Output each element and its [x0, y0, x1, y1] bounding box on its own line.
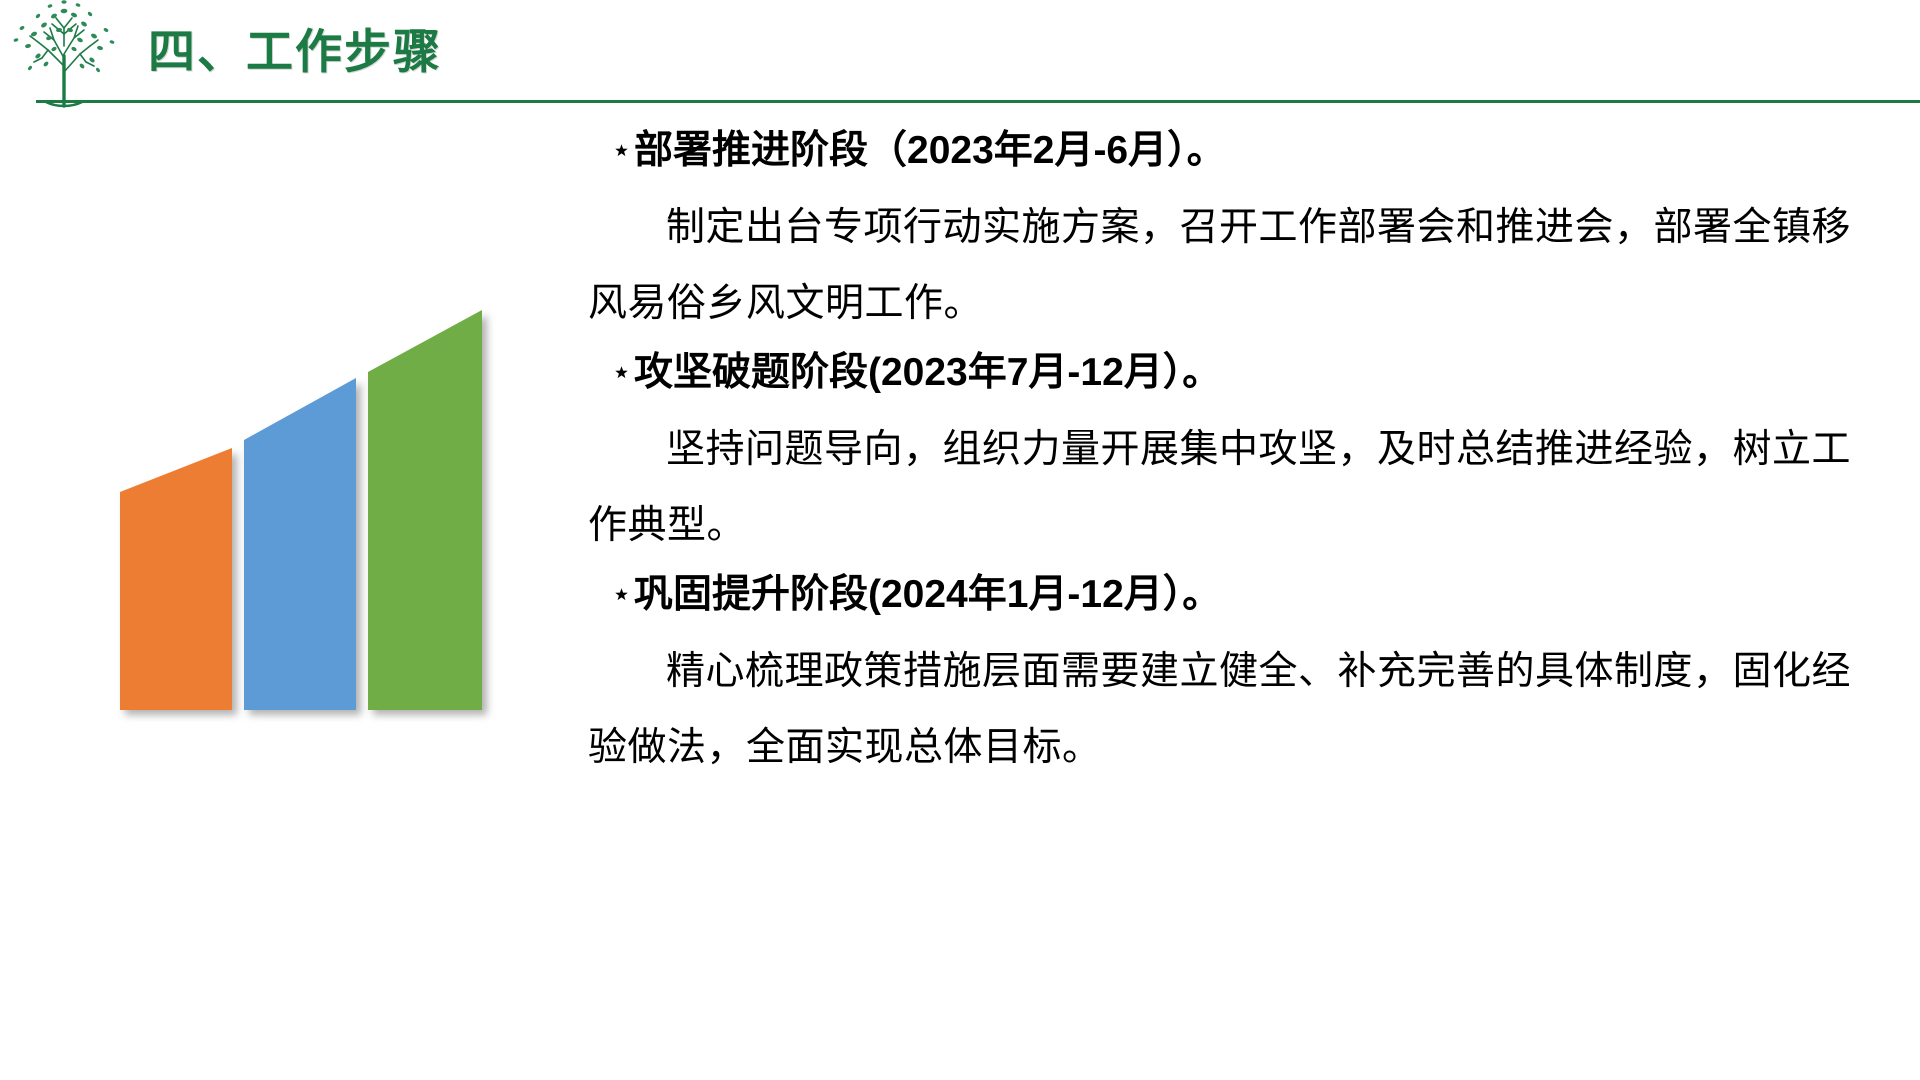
bullet-item-3: 巩固提升阶段(2024年1月-12月）。 — [588, 564, 1908, 626]
bullet-heading-2: 攻坚破题阶段(2023年7月-12月）。 — [634, 342, 1221, 404]
content-body: 部署推进阶段（2023年2月-6月）。 制定出台专项行动实施方案，召开工作部署会… — [588, 120, 1908, 786]
tree-icon — [4, 0, 124, 114]
bullet-paragraph-1: 制定出台专项行动实施方案，召开工作部署会和推进会，部署全镇移风易俗乡风文明工作。 — [588, 190, 1878, 342]
bullet-paragraph-2: 坚持问题导向，组织力量开展集中攻坚，及时总结推进经验，树立工作典型。 — [588, 412, 1878, 564]
chart-bar-1 — [120, 448, 232, 710]
crescent-star-icon — [588, 564, 634, 626]
ascending-bars-chart — [110, 280, 530, 740]
bullet-paragraph-3: 精心梳理政策措施层面需要建立健全、补充完善的具体制度，固化经验做法，全面实现总体… — [588, 634, 1878, 786]
page-title: 四、工作步骤 — [148, 22, 442, 82]
bullet-heading-3: 巩固提升阶段(2024年1月-12月）。 — [634, 564, 1221, 626]
bullet-item-2: 攻坚破题阶段(2023年7月-12月）。 — [588, 342, 1908, 404]
crescent-star-icon — [588, 342, 634, 404]
chart-bar-3 — [368, 310, 482, 710]
bullet-item-1: 部署推进阶段（2023年2月-6月）。 — [588, 120, 1908, 182]
title-underline-left — [36, 100, 140, 103]
bullet-heading-1: 部署推进阶段（2023年2月-6月）。 — [634, 120, 1226, 182]
crescent-star-icon — [588, 120, 634, 182]
slide-canvas: 四、工作步骤 — [0, 0, 1920, 1080]
title-underline — [140, 100, 1920, 103]
slide-header: 四、工作步骤 — [0, 0, 1920, 108]
chart-bar-2 — [244, 378, 356, 710]
